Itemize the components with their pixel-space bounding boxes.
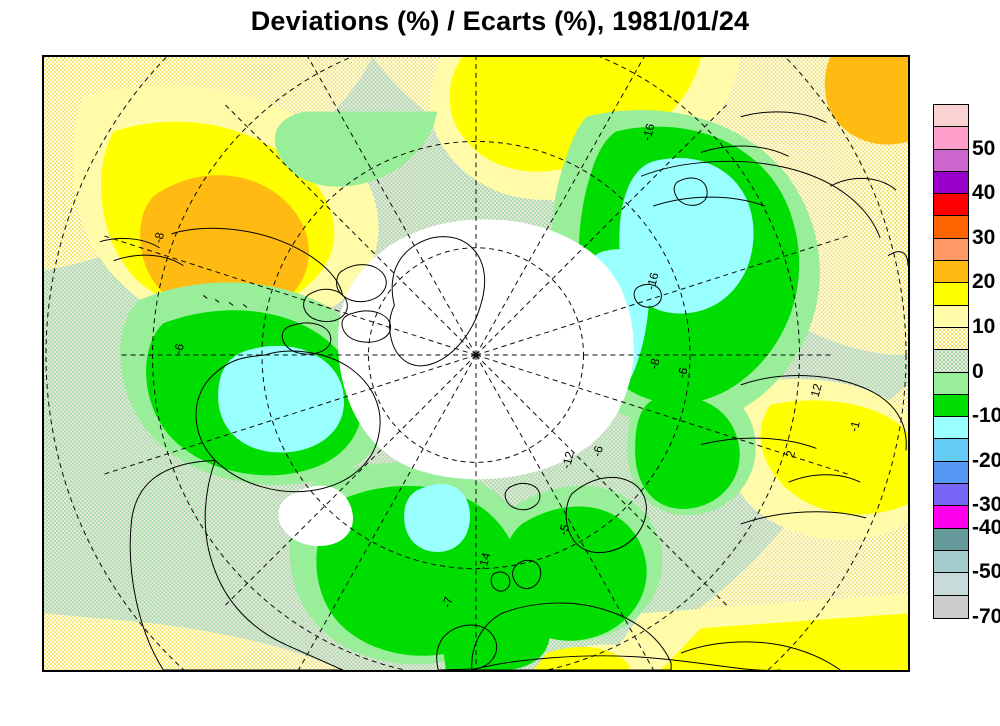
colorbar-band <box>934 373 968 395</box>
colorbar-tick-label: -20 <box>972 450 1000 471</box>
colorbar-band <box>934 529 968 551</box>
colorbar-tick-label: -10 <box>972 405 1000 426</box>
colorbar-band <box>934 105 968 127</box>
colorbar-tick-label: -50 <box>972 561 1000 582</box>
colorbar-band <box>934 506 968 528</box>
colorbar-band <box>934 395 968 417</box>
colorbar-band <box>934 194 968 216</box>
colorbar-tick-label: 0 <box>972 361 984 382</box>
colorbar-tick-label: 30 <box>972 227 995 248</box>
anomaly-contour-map: -16-16-8-6-12-6-5-14-7-8-612-12 <box>44 57 908 670</box>
colorbar-band <box>934 417 968 439</box>
page-title: Deviations (%) / Ecarts (%), 1981/01/24 <box>0 6 1000 37</box>
colorbar-band <box>934 484 968 506</box>
colorbar <box>933 104 969 619</box>
colorbar-tick-label: -40 <box>972 517 1000 538</box>
colorbar-tick-label: 50 <box>972 138 995 159</box>
colorbar-band <box>934 551 968 573</box>
colorbar-band <box>934 462 968 484</box>
colorbar-band <box>934 172 968 194</box>
colorbar-band <box>934 306 968 328</box>
map-plot-area: -16-16-8-6-12-6-5-14-7-8-612-12 <box>42 55 910 672</box>
colorbar-band <box>934 350 968 372</box>
colorbar-band <box>934 283 968 305</box>
colorbar-band <box>934 439 968 461</box>
colorbar-tick-label: 10 <box>972 316 995 337</box>
colorbar-band <box>934 596 968 618</box>
colorbar-band <box>934 239 968 261</box>
colorbar-band <box>934 216 968 238</box>
colorbar-tick-label: 20 <box>972 271 995 292</box>
colorbar-tick-label: -70 <box>972 606 1000 627</box>
colorbar-band <box>934 261 968 283</box>
colorbar-tick-labels: 50403020100-10-20-30-40-50-70 <box>972 104 1000 617</box>
colorbar-band <box>934 127 968 149</box>
colorbar-tick-label: -30 <box>972 494 1000 515</box>
colorbar-tick-label: 40 <box>972 182 995 203</box>
colorbar-band <box>934 150 968 172</box>
colorbar-band <box>934 573 968 595</box>
colorbar-band <box>934 328 968 350</box>
